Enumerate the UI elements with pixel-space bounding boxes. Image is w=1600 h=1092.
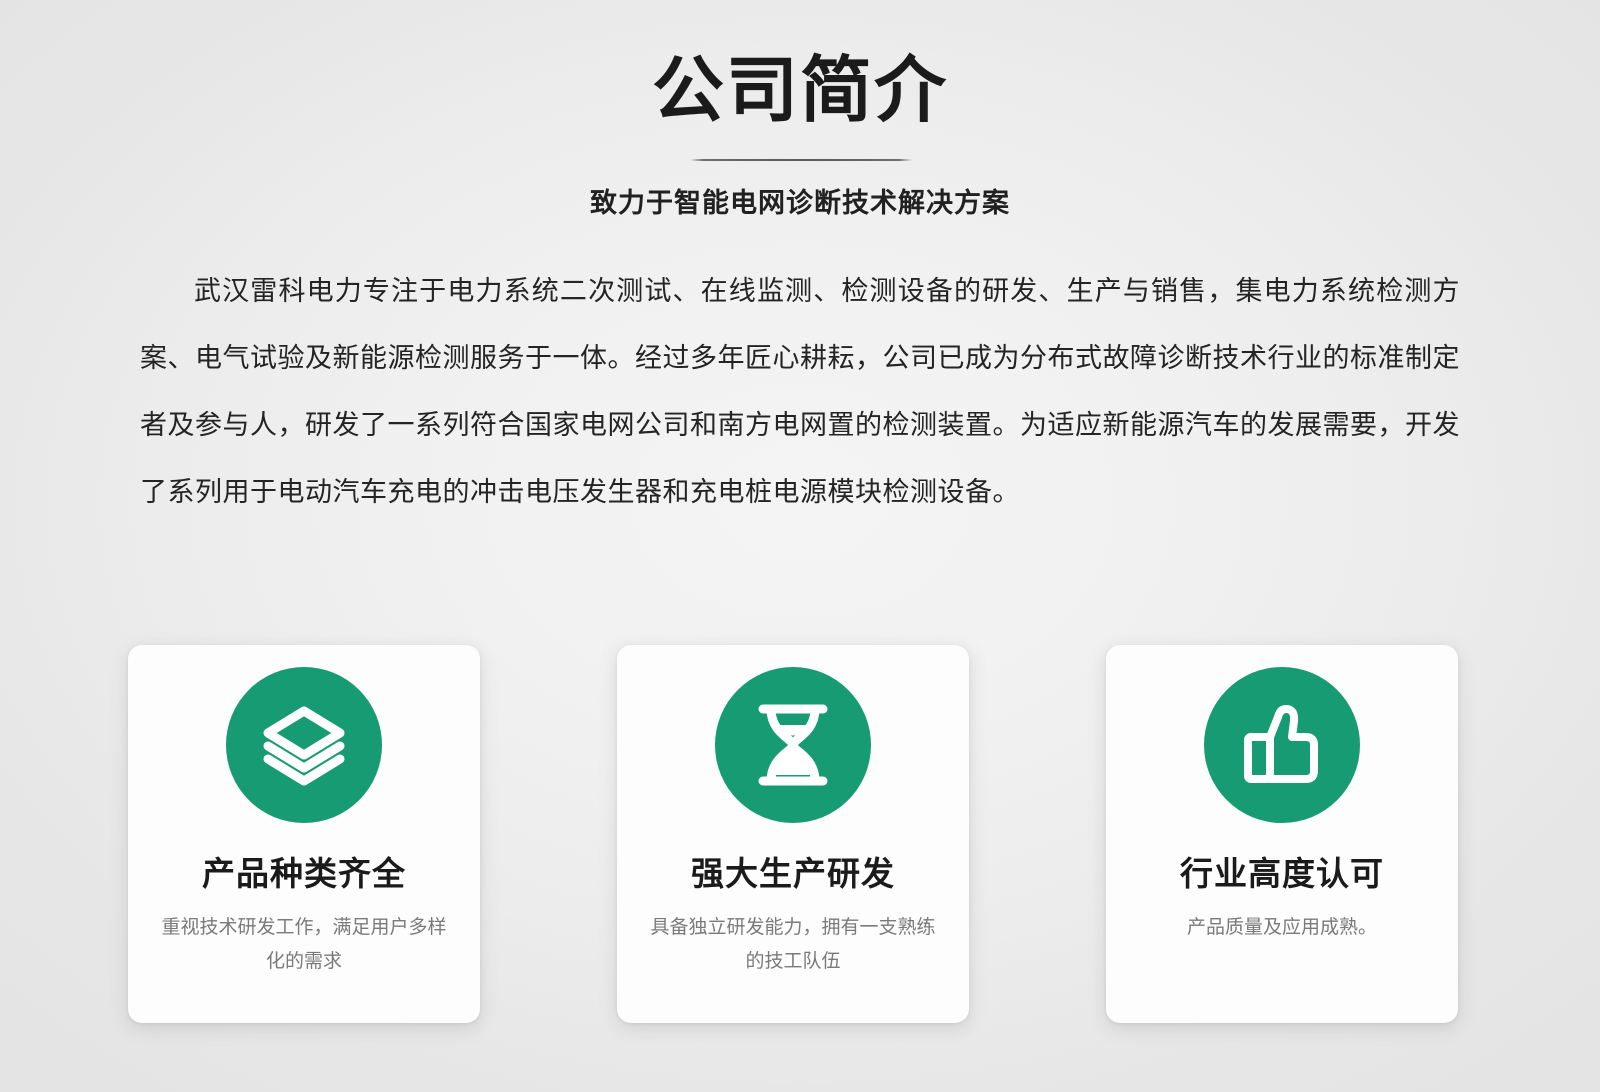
feature-card-rnd-capacity[interactable]: 强大生产研发 具备独立研发能力，拥有一支熟练的技工队伍 xyxy=(617,645,969,1023)
page-title: 公司简介 xyxy=(0,48,1600,134)
feature-card-title: 强大生产研发 xyxy=(691,853,895,895)
feature-card-title: 产品种类齐全 xyxy=(202,853,406,895)
layers-icon xyxy=(226,667,382,823)
feature-card-description: 产品质量及应用成熟。 xyxy=(1137,911,1427,945)
feature-card-description: 具备独立研发能力，拥有一支熟练的技工队伍 xyxy=(648,911,938,979)
title-divider xyxy=(690,159,912,161)
company-profile-page: 公司简介 致力于智能电网诊断技术解决方案 武汉雷科电力专注于电力系统二次测试、在… xyxy=(0,0,1600,1092)
feature-card-description: 重视技术研发工作，满足用户多样化的需求 xyxy=(159,911,449,979)
feature-card-industry-recognition[interactable]: 行业高度认可 产品质量及应用成熟。 xyxy=(1106,645,1458,1023)
page-subtitle: 致力于智能电网诊断技术解决方案 xyxy=(0,184,1600,222)
feature-card-product-range[interactable]: 产品种类齐全 重视技术研发工作，满足用户多样化的需求 xyxy=(128,645,480,1023)
hourglass-icon xyxy=(715,667,871,823)
feature-card-list: 产品种类齐全 重视技术研发工作，满足用户多样化的需求 强大生产研发 具备独立 xyxy=(128,645,1458,1023)
feature-card-title: 行业高度认可 xyxy=(1180,853,1384,895)
thumbs-up-icon xyxy=(1204,667,1360,823)
company-intro-paragraph: 武汉雷科电力专注于电力系统二次测试、在线监测、检测设备的研发、生产与销售，集电力… xyxy=(140,258,1460,526)
